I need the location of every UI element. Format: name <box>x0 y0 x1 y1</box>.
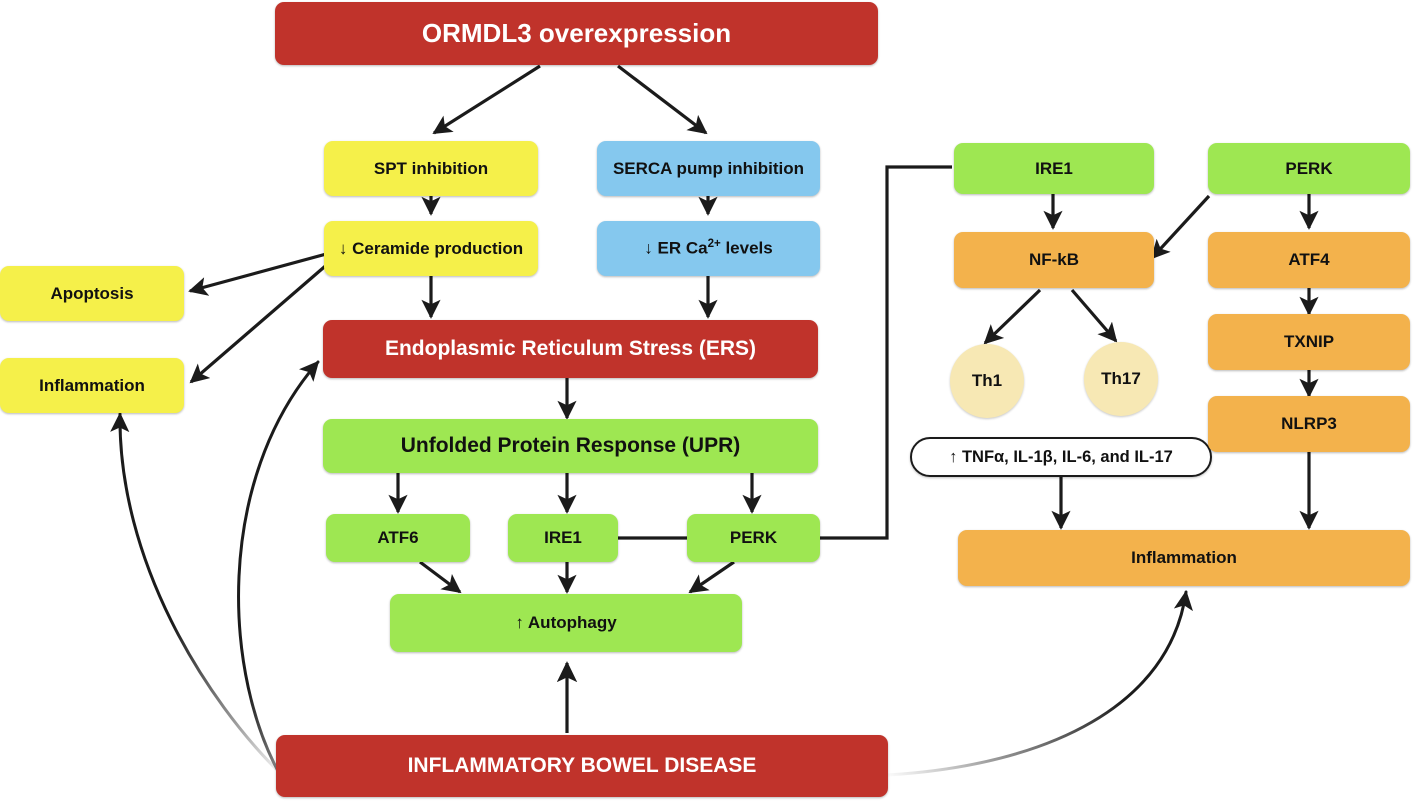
node-cytokines[interactable]: ↑ TNFα, IL-1β, IL-6, and IL-17 <box>910 437 1212 477</box>
node-inflammation-left[interactable]: Inflammation <box>0 358 184 413</box>
node-ire1-main[interactable]: IRE1 <box>508 514 618 562</box>
node-inflammatory-bowel-disease[interactable]: INFLAMMATORY BOWEL DISEASE <box>276 735 888 797</box>
edge-ibd-to-inflammation-left <box>120 414 282 775</box>
edge-perk-to-right-panel <box>820 167 952 538</box>
edge-ormdl3-to-serca <box>618 66 706 133</box>
edge-perk-to-autophagy <box>690 562 734 592</box>
edge-ormdl3-to-spt <box>434 66 540 133</box>
node-autophagy[interactable]: ↑ Autophagy <box>390 594 742 652</box>
edge-ceramide-to-inflammation-left <box>191 262 330 382</box>
node-txnip[interactable]: TXNIP <box>1208 314 1410 370</box>
er-calcium-label: ↓ ER Ca2+ levels <box>644 238 772 258</box>
node-atf4[interactable]: ATF4 <box>1208 232 1410 288</box>
node-atf6[interactable]: ATF6 <box>326 514 470 562</box>
node-perk-right[interactable]: PERK <box>1208 143 1410 194</box>
node-apoptosis[interactable]: Apoptosis <box>0 266 184 321</box>
edge-perkr-to-nfkb <box>1152 196 1209 258</box>
edge-ceramide-to-apoptosis <box>190 253 330 291</box>
node-th1[interactable]: Th1 <box>950 344 1024 418</box>
edge-ibd-to-ers <box>239 362 318 780</box>
node-ire1-right[interactable]: IRE1 <box>954 143 1154 194</box>
edge-ibd-to-inflammation-right <box>888 592 1186 775</box>
node-ceramide-production[interactable]: ↓ Ceramide production <box>324 221 538 276</box>
node-serca-pump-inhibition[interactable]: SERCA pump inhibition <box>597 141 820 196</box>
pathway-diagram-canvas: ORMDL3 overexpression SPT inhibition ↓ C… <box>0 0 1415 804</box>
node-perk-main[interactable]: PERK <box>687 514 820 562</box>
node-inflammation-right[interactable]: Inflammation <box>958 530 1410 586</box>
node-nf-kb[interactable]: NF-kB <box>954 232 1154 288</box>
edge-nfkb-to-th17 <box>1072 290 1116 341</box>
node-th17[interactable]: Th17 <box>1084 342 1158 416</box>
edge-nfkb-to-th1 <box>985 290 1040 343</box>
edge-layer <box>0 0 1415 804</box>
node-spt-inhibition[interactable]: SPT inhibition <box>324 141 538 196</box>
node-endoplasmic-reticulum-stress[interactable]: Endoplasmic Reticulum Stress (ERS) <box>323 320 818 378</box>
node-nlrp3[interactable]: NLRP3 <box>1208 396 1410 452</box>
node-unfolded-protein-response[interactable]: Unfolded Protein Response (UPR) <box>323 419 818 473</box>
edge-atf6-to-autophagy <box>420 562 460 592</box>
node-ormdl3-overexpression[interactable]: ORMDL3 overexpression <box>275 2 878 65</box>
node-er-calcium-levels[interactable]: ↓ ER Ca2+ levels <box>597 221 820 276</box>
